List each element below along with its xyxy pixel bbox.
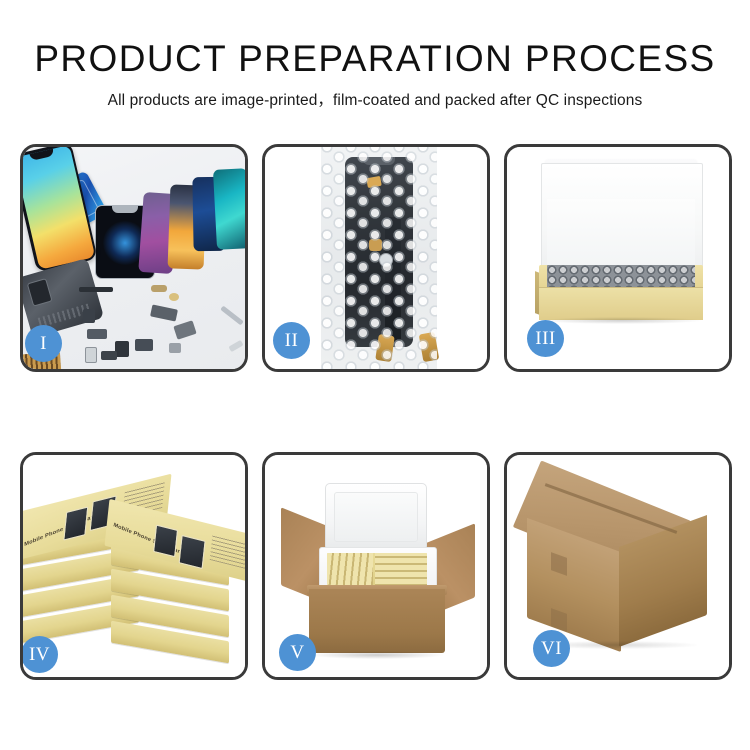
spare-part — [79, 287, 113, 292]
spare-part — [101, 351, 117, 360]
bubble-wrap-bag — [321, 147, 437, 369]
box-screen-graphic — [153, 525, 178, 558]
step-4-photo: Mobile Phone Spare Parts Mobile Phone Sp… — [23, 455, 245, 677]
carton-front-panel — [309, 589, 445, 653]
product-preparation-process-page: PRODUCT PREPARATION PROCESS All products… — [0, 0, 750, 750]
step-badge-3: III — [527, 320, 564, 357]
step-badge-4: IV — [21, 636, 58, 673]
spare-part — [83, 309, 95, 323]
box-stack: Mobile Phone Spare Parts Mobile Phone Sp… — [23, 455, 245, 677]
box-screen-graphic — [179, 535, 206, 569]
header: PRODUCT PREPARATION PROCESS All products… — [0, 40, 750, 110]
process-step-4[interactable]: Mobile Phone Spare Parts Mobile Phone Sp… — [20, 452, 248, 680]
step-badge-5: V — [279, 634, 316, 671]
step-badge-1: I — [25, 325, 62, 362]
teal-phone — [213, 168, 245, 250]
process-step-6[interactable]: VI — [504, 452, 732, 680]
step-badge-2: II — [273, 322, 310, 359]
process-step-3[interactable]: III — [504, 144, 732, 372]
process-steps-grid: I II — [20, 144, 732, 680]
spare-part — [115, 341, 129, 357]
spare-part — [85, 347, 97, 363]
spare-part — [87, 329, 107, 339]
step-badge-6: VI — [533, 630, 570, 667]
bubble-texture — [321, 147, 437, 369]
process-step-1[interactable]: I — [20, 144, 248, 372]
drop-shadow — [543, 317, 701, 324]
process-step-5[interactable]: V — [262, 452, 490, 680]
spare-part — [135, 339, 153, 351]
page-subtitle: All products are image-printed，film-coat… — [0, 88, 750, 110]
drop-shadow — [311, 651, 443, 659]
spare-part — [169, 343, 181, 353]
spare-part — [151, 285, 167, 292]
process-step-2[interactable]: II — [262, 144, 490, 372]
box-spec-text-block — [210, 535, 245, 570]
yellow-box-front — [539, 287, 703, 320]
white-foam-sheet — [547, 199, 695, 273]
page-title: PRODUCT PREPARATION PROCESS — [0, 40, 750, 79]
box-screen-graphic — [63, 506, 88, 540]
foam-box-lid — [325, 483, 427, 551]
spare-part — [169, 293, 179, 301]
